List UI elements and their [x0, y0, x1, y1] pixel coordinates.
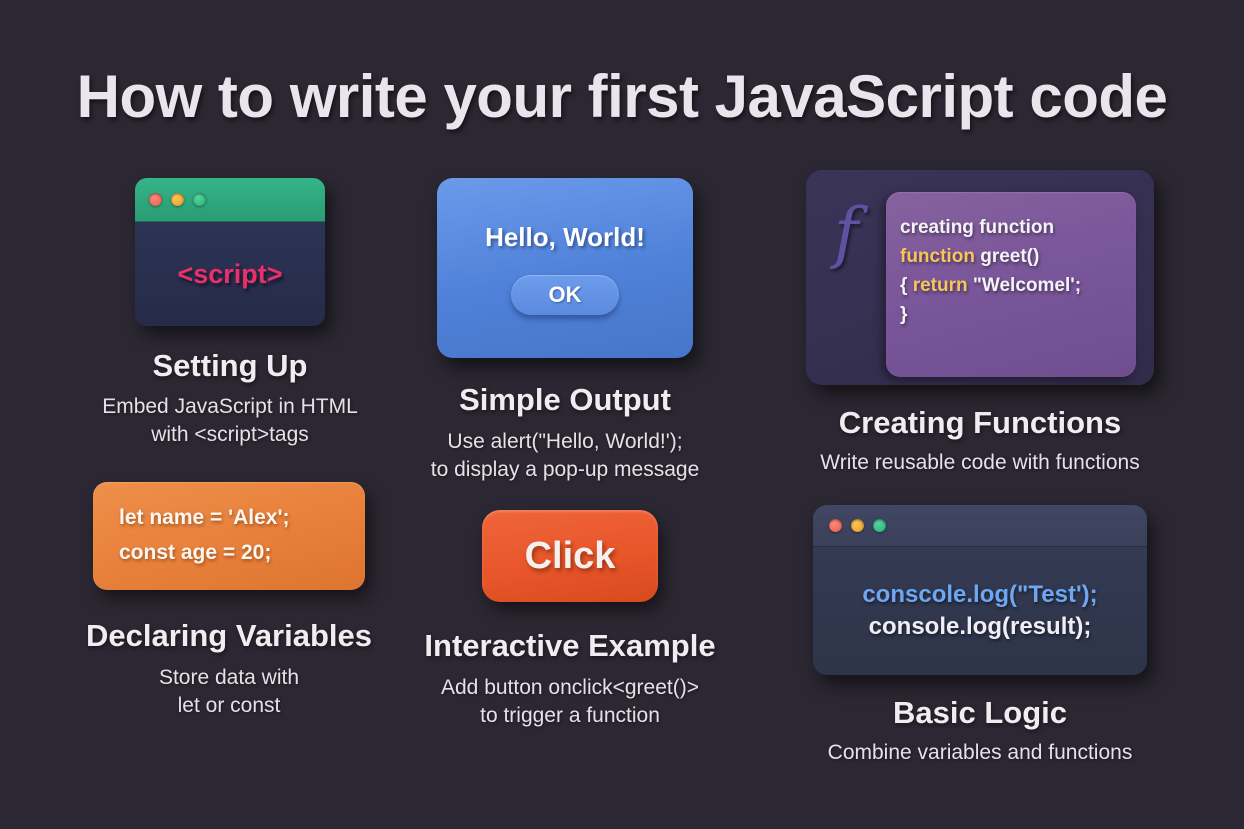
function-code-line: function greet(): [900, 243, 1122, 272]
page-title: How to write your first JavaScript code: [0, 62, 1244, 131]
function-card-illustration: f creating functionfunction greet(){ ret…: [806, 170, 1154, 385]
function-code-line: creating function: [900, 214, 1122, 243]
code-keyword: function: [900, 246, 975, 267]
script-window-body: <script>: [135, 222, 325, 326]
console-code-line: console.log(result);: [869, 613, 1092, 641]
code-text: "Welcomel';: [968, 275, 1081, 296]
console-window-illustration: conscole.log("Test');console.log(result)…: [813, 505, 1147, 675]
close-dot-icon: [149, 193, 162, 206]
code-text: }: [900, 304, 907, 325]
card-setting-up: <script> Setting Up Embed JavaScript in …: [40, 178, 420, 449]
card-title-declaring-variables: Declaring Variables: [36, 618, 422, 654]
minimize-dot-icon: [851, 519, 864, 532]
card-simple-output: Hello, World! OK Simple Output Use alert…: [370, 178, 760, 484]
variable-code-line: let name = 'Alex';: [119, 501, 365, 536]
card-description-setting-up: Embed JavaScript in HTML with <script>ta…: [40, 393, 420, 449]
script-window-titlebar: [135, 178, 325, 222]
card-title-creating-functions: Creating Functions: [760, 405, 1200, 441]
console-code-line: conscole.log("Test');: [862, 581, 1097, 609]
card-declaring-variables: let name = 'Alex';const age = 20; Declar…: [36, 482, 422, 720]
code-text: creating function: [900, 217, 1054, 238]
function-code-line: { return "Welcomel';: [900, 272, 1122, 301]
card-title-simple-output: Simple Output: [370, 382, 760, 418]
card-description-creating-functions: Write reusable code with functions: [760, 449, 1200, 477]
close-dot-icon: [829, 519, 842, 532]
script-window-illustration: <script>: [135, 178, 325, 326]
card-description-basic-logic: Combine variables and functions: [760, 739, 1200, 767]
card-title-basic-logic: Basic Logic: [760, 695, 1200, 731]
alert-message-text: Hello, World!: [485, 222, 645, 253]
function-code-panel: creating functionfunction greet(){ retur…: [886, 192, 1136, 377]
function-f-icon: f: [834, 200, 858, 266]
maximize-dot-icon: [193, 193, 206, 206]
code-text: {: [900, 275, 913, 296]
card-description-interactive-example: Add button onclick<greet()> to trigger a…: [380, 674, 760, 730]
card-creating-functions: f creating functionfunction greet(){ ret…: [760, 170, 1200, 477]
card-description-simple-output: Use alert("Hello, World!'); to display a…: [370, 428, 760, 484]
variable-code-line: const age = 20;: [119, 536, 365, 571]
code-keyword: return: [913, 275, 968, 296]
alert-ok-button[interactable]: OK: [511, 275, 619, 315]
variables-code-box: let name = 'Alex';const age = 20;: [93, 482, 365, 590]
card-description-declaring-variables: Store data with let or const: [36, 664, 422, 720]
click-button[interactable]: Click: [482, 510, 658, 602]
card-title-setting-up: Setting Up: [40, 348, 420, 384]
script-tag-text: <script>: [177, 259, 282, 290]
console-window-titlebar: [813, 505, 1147, 547]
code-text: greet(): [975, 246, 1039, 267]
alert-dialog-illustration: Hello, World! OK: [437, 178, 693, 358]
card-interactive-example: Click Interactive Example Add button onc…: [380, 510, 760, 730]
console-window-body: conscole.log("Test');console.log(result)…: [813, 547, 1147, 675]
card-title-interactive-example: Interactive Example: [380, 628, 760, 664]
card-basic-logic: conscole.log("Test');console.log(result)…: [760, 505, 1200, 767]
minimize-dot-icon: [171, 193, 184, 206]
function-code-line: }: [900, 301, 1122, 330]
maximize-dot-icon: [873, 519, 886, 532]
